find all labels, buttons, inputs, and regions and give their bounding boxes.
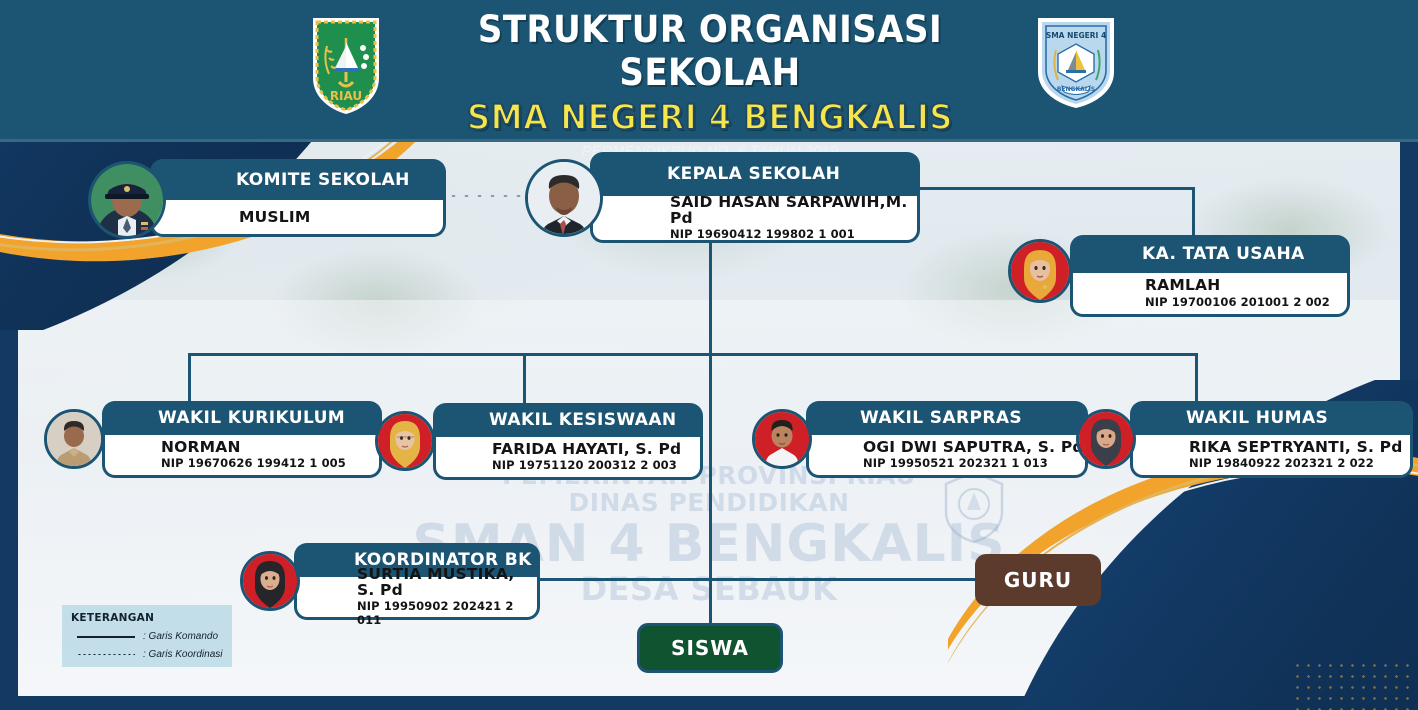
legend-title: KETERANGAN <box>71 612 223 624</box>
kesiswaan-body: FARIDA HAYATI, S. Pd NIP 19751120 200312… <box>433 437 703 480</box>
sman4-bengkalis-logo-icon: BENGKALIS SMA NEGERI 4 <box>1032 12 1120 112</box>
line-drop-kurikulum <box>188 353 191 407</box>
svg-text:BENGKALIS: BENGKALIS <box>1057 86 1095 93</box>
line-drop-humas <box>1195 353 1198 407</box>
legend-label-komando: : Garis Komando <box>143 631 218 642</box>
komite-title: KOMITE SEKOLAH <box>150 159 446 200</box>
sarpras-avatar <box>752 409 812 469</box>
svg-text:SMA NEGERI 4: SMA NEGERI 4 <box>1046 31 1106 40</box>
legend-label-koordinasi: : Garis Koordinasi <box>143 649 222 660</box>
sarpras-body: OGI DWI SAPUTRA, S. Pd NIP 19950521 2023… <box>806 435 1088 478</box>
svg-text:RIAU: RIAU <box>330 89 362 103</box>
bk-body: SURTIA MUSTIKA, S. Pd NIP 19950902 20242… <box>294 577 540 620</box>
legend-row-koordinasi: : Garis Koordinasi <box>71 649 223 660</box>
komite-avatar <box>88 161 166 239</box>
kepala-nip: NIP 19690412 199802 1 001 <box>670 228 917 242</box>
kurikulum-body: NORMAN NIP 19670626 199412 1 005 <box>102 435 382 478</box>
kepala-avatar <box>525 159 603 237</box>
line-drop-kesiswaan <box>523 353 526 407</box>
legend-panel: KETERANGAN : Garis Komando : Garis Koord… <box>62 605 232 667</box>
line-bk-guru-horizontal <box>538 578 978 581</box>
kepala-body: SAID HASAN SARPAWIH,M. Pd NIP 19690412 1… <box>590 196 920 243</box>
poster-title-line2: SMA NEGERI 4 BENGKALIS <box>425 98 995 138</box>
poster-title-line1: STRUKTUR ORGANISASI SEKOLAH <box>425 8 995 94</box>
bk-nip: NIP 19950902 202421 2 011 <box>357 600 537 628</box>
bk-avatar <box>240 551 300 611</box>
komite-body: MUSLIM <box>150 200 446 237</box>
sarpras-title: WAKIL SARPRAS <box>806 401 1088 435</box>
komite-name: MUSLIM <box>239 209 443 225</box>
tu-nip: NIP 19700106 201001 2 002 <box>1145 296 1347 310</box>
kurikulum-name: NORMAN <box>161 439 379 455</box>
node-siswa[interactable]: SISWA <box>637 623 783 673</box>
humas-title: WAKIL HUMAS <box>1130 401 1413 435</box>
tu-avatar <box>1008 239 1072 303</box>
node-guru[interactable]: GURU <box>975 554 1101 606</box>
sarpras-name: OGI DWI SAPUTRA, S. Pd <box>863 439 1085 455</box>
riau-province-emblem-icon: RIAU <box>305 12 387 118</box>
humas-body: RIKA SEPTRYANTI, S. Pd NIP 19840922 2023… <box>1130 435 1413 478</box>
tu-body: RAMLAH NIP 19700106 201001 2 002 <box>1070 273 1350 317</box>
humas-name: RIKA SEPTRYANTI, S. Pd <box>1189 439 1410 455</box>
kesiswaan-title: WAKIL KESISWAAN <box>433 403 703 437</box>
organization-chart-poster: PEMERINTAH PROVINSI RIAU DINAS PENDIDIKA… <box>0 0 1418 710</box>
humas-nip: NIP 19840922 202321 2 022 <box>1189 457 1410 471</box>
kesiswaan-name: FARIDA HAYATI, S. Pd <box>492 441 700 457</box>
kurikulum-title: WAKIL KURIKULUM <box>102 401 382 435</box>
kurikulum-nip: NIP 19670626 199412 1 005 <box>161 457 379 471</box>
legend-solid-line-icon <box>71 636 143 638</box>
line-kepala-trunk <box>709 243 712 355</box>
kepala-name: SAID HASAN SARPAWIH,M. Pd <box>670 194 917 227</box>
watermark-seal-icon <box>942 470 1006 544</box>
humas-avatar <box>1076 409 1136 469</box>
kesiswaan-nip: NIP 19751120 200312 2 003 <box>492 459 700 473</box>
bk-name: SURTIA MUSTIKA, S. Pd <box>357 566 537 599</box>
tu-name: RAMLAH <box>1145 277 1347 293</box>
line-tu-drop <box>1192 187 1195 237</box>
legend-dotted-line-icon <box>71 653 143 656</box>
kepala-title: KEPALA SEKOLAH <box>590 152 920 196</box>
kesiswaan-avatar <box>375 411 435 471</box>
kurikulum-avatar <box>44 409 104 469</box>
legend-row-komando: : Garis Komando <box>71 631 223 642</box>
line-wakil-bus <box>188 353 1198 356</box>
tu-title: KA. TATA USAHA <box>1070 235 1350 273</box>
sarpras-nip: NIP 19950521 202321 1 013 <box>863 457 1085 471</box>
line-main-trunk-lower <box>709 353 712 625</box>
